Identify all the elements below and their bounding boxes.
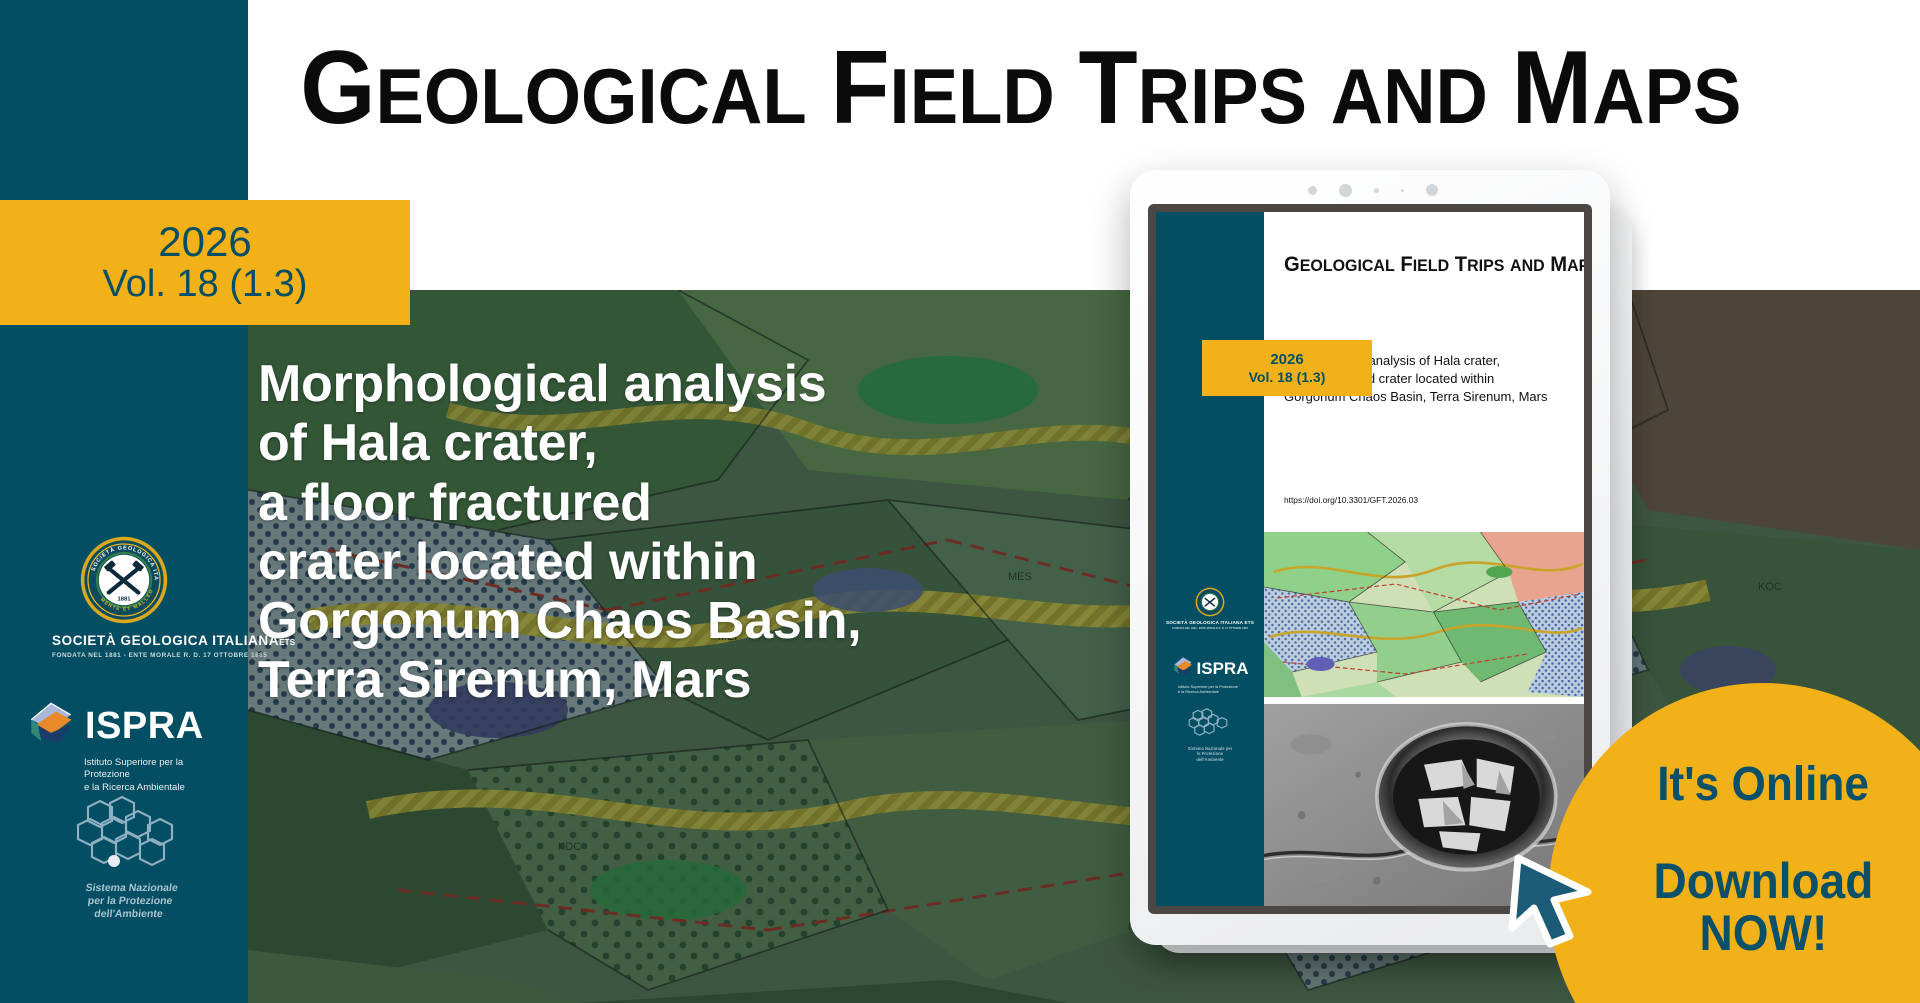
snpa-hexagon-mark-icon [60, 862, 200, 879]
ispra-logo: ISPRA Istituto Superiore per la Protezio… [26, 700, 226, 794]
cover-ispra-wordmark: ISPRA [1197, 660, 1249, 677]
snpa-line1: Sistema Nazionale [56, 882, 208, 895]
cover-main-column: GEOLOGICAL FIELD TRIPS AND MAPS 2026 Vol… [1264, 212, 1584, 906]
cover-sgi-name: SOCIETÀ GEOLOGICA ITALIANA ETS [1156, 620, 1264, 625]
tablet-frame: SOCIETÀ GEOLOGICA ITALIANA ETS FONDATA N… [1130, 170, 1610, 945]
volume-chip: 2026 Vol. 18 (1.3) [0, 200, 410, 325]
camera-lens-icon [1339, 184, 1352, 197]
journal-masthead: GEOLOGICAL FIELD TRIPS AND MAPS [248, 28, 1793, 148]
snpa-line2: per la Protezione [54, 895, 206, 908]
poster-canvas: MElMES KDCMES FILKOC x GEOLOGICAL FIELD … [0, 0, 1920, 1003]
cta-line-download[interactable]: Download [1653, 855, 1873, 907]
article-headline: Morphological analysis of Hala crater, a… [258, 355, 958, 711]
headline-line: Terra Sirenum, Mars [258, 651, 958, 710]
cover-doi-link[interactable]: https://doi.org/10.3301/GFT.2026.03 [1284, 495, 1418, 505]
mouse-cursor-icon [1500, 840, 1600, 950]
camera-mic-icon [1374, 188, 1379, 193]
volume-year: 2026 [158, 219, 251, 264]
cover-rail-logos: SOCIETÀ GEOLOGICA ITALIANA ETS FONDATA N… [1156, 587, 1264, 762]
tablet-screen[interactable]: SOCIETÀ GEOLOGICA ITALIANA ETS FONDATA N… [1148, 204, 1592, 914]
headline-line: Gorgonum Chaos Basin, [258, 592, 958, 651]
ispra-subtitle: Istituto Superiore per la Protezione e l… [84, 757, 226, 794]
cover-snpa-text: Sistema Nazionale per la Protezione dell… [1156, 746, 1264, 762]
sgi-ets-suffix: ETS [279, 638, 295, 647]
cover-snpa-line3: dell'Ambiente [1156, 757, 1264, 762]
volume-number: Vol. 18 (1.3) [103, 264, 308, 306]
camera-lens2-icon [1426, 184, 1438, 196]
headline-line: a floor fractured [258, 474, 958, 533]
journal-title: GEOLOGICAL FIELD TRIPS AND MAPS [300, 36, 1741, 140]
cover-chip-year: 2026 [1270, 351, 1303, 369]
ispra-wordmark: ISPRA [85, 707, 204, 745]
cover-snpa-logo: Sistema Nazionale per la Protezione dell… [1156, 708, 1264, 762]
cover-ispra-subtitle-line2: e la Ricerca Ambientale [1178, 689, 1264, 694]
ispra-subtitle-line2: e la Ricerca Ambientale [84, 782, 226, 794]
cover-chip-volume: Vol. 18 (1.3) [1249, 369, 1326, 386]
ispra-shell-mark-icon [26, 700, 76, 751]
headline-line: of Hala crater, [258, 414, 958, 473]
cover-sgi-subtitle: FONDATA NEL 1881 - ENTE MORALE R. D. 17 … [1156, 627, 1264, 630]
snpa-logo: Sistema Nazionale per la Protezione dell… [55, 795, 205, 921]
cta-line-online: It's Online [1657, 761, 1869, 809]
tablet-camera-array [1308, 182, 1438, 198]
cover-sgi-seal-icon [1195, 587, 1225, 617]
camera-led-icon [1401, 189, 1404, 192]
societa-geologica-italiana-logo: 1881 SOCIETÀ GEOLOGICA ITALIANA MENTE ET… [52, 535, 196, 659]
headline-line: crater located within [258, 533, 958, 592]
snpa-text: Sistema Nazionale per la Protezione dell… [53, 882, 208, 921]
cta-line-now[interactable]: NOW! [1699, 907, 1827, 959]
journal-cover: SOCIETÀ GEOLOGICA ITALIANA ETS FONDATA N… [1156, 212, 1584, 906]
cover-ispra-logo: ISPRA [1156, 656, 1264, 681]
camera-sensor-icon [1308, 186, 1317, 195]
cover-volume-chip: 2026 Vol. 18 (1.3) [1202, 340, 1372, 396]
ispra-subtitle-line1: Istituto Superiore per la Protezione [84, 757, 226, 782]
headline-line: Morphological analysis [258, 355, 958, 414]
cover-ispra-subtitle: Istituto Superiore per la Protezione e l… [1178, 684, 1264, 694]
cover-journal-title: GEOLOGICAL FIELD TRIPS AND MAPS [1284, 252, 1557, 277]
sgi-subtitle: FONDATA NEL 1881 - ENTE MORALE R. D. 17 … [52, 652, 196, 659]
cover-snpa-hexagon-mark-icon [1182, 727, 1238, 744]
cta-content: It's Online Download NOW! [1548, 683, 1920, 1003]
cover-ispra-shell-mark-icon [1172, 656, 1194, 681]
sgi-name: SOCIETÀ GEOLOGICA ITALIANAETS [52, 633, 196, 648]
svg-text:1881: 1881 [117, 597, 131, 603]
geological-hammers-seal-icon: 1881 SOCIETÀ GEOLOGICA ITALIANA MENTE ET… [79, 535, 169, 625]
snpa-line3: dell'Ambiente [53, 908, 205, 921]
cover-geological-map-figure [1264, 532, 1584, 697]
cover-left-rail: SOCIETÀ GEOLOGICA ITALIANA ETS FONDATA N… [1156, 212, 1264, 906]
